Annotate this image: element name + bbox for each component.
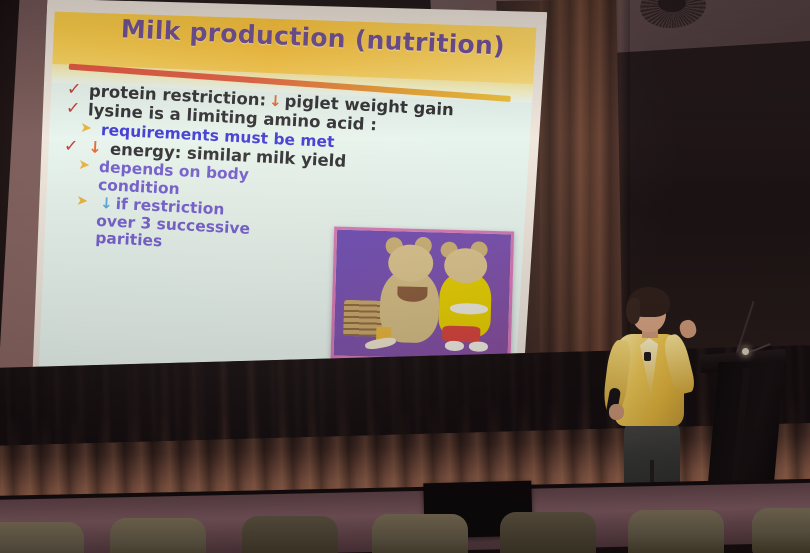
speaker-hand-left <box>609 404 624 420</box>
presentation-slide: Milk production (nutrition) ✓ protein re… <box>36 2 537 397</box>
lectern-lamp-icon <box>742 348 749 355</box>
seat-4 <box>372 514 468 553</box>
bullet-text-6-label: if restriction over 3 successive paritie… <box>95 195 251 250</box>
triangle-bullet-icon: ➤ <box>75 158 94 173</box>
pig-shorts <box>441 326 480 343</box>
check-icon: ✓ <box>64 100 83 118</box>
pig-bone <box>364 336 396 350</box>
check-icon: ✓ <box>65 81 84 99</box>
pig-shoe-a <box>444 341 463 352</box>
down-arrow-icon: ↓ <box>266 91 285 110</box>
down-arrow-blue-icon: ↓ <box>97 194 116 213</box>
check-icon: ✓ <box>62 138 81 156</box>
seat-3 <box>242 516 338 553</box>
down-arrow-icon: ↓ <box>86 139 105 156</box>
triangle-bullet-icon: ➤ <box>77 120 96 135</box>
seat-1 <box>0 522 84 553</box>
slide-image-cartoon-pigs <box>330 227 513 364</box>
projection-screen: Milk production (nutrition) ✓ protein re… <box>27 0 547 412</box>
pig-shoe-b <box>469 342 488 353</box>
speaker-hair-side <box>626 298 640 324</box>
seat-2 <box>110 518 206 553</box>
speaker-hand-right <box>678 318 698 340</box>
seat-5 <box>500 512 596 553</box>
speaker-lapel-mic-icon <box>644 352 651 361</box>
seat-6 <box>628 510 724 553</box>
triangle-bullet-icon: ➤ <box>73 194 92 209</box>
bullet-text-6: ↓if restriction over 3 successive pariti… <box>95 195 258 255</box>
presentation-photo-scene: Milk production (nutrition) ✓ protein re… <box>0 0 810 553</box>
audience-seats <box>0 516 810 553</box>
seat-7 <box>752 508 810 553</box>
